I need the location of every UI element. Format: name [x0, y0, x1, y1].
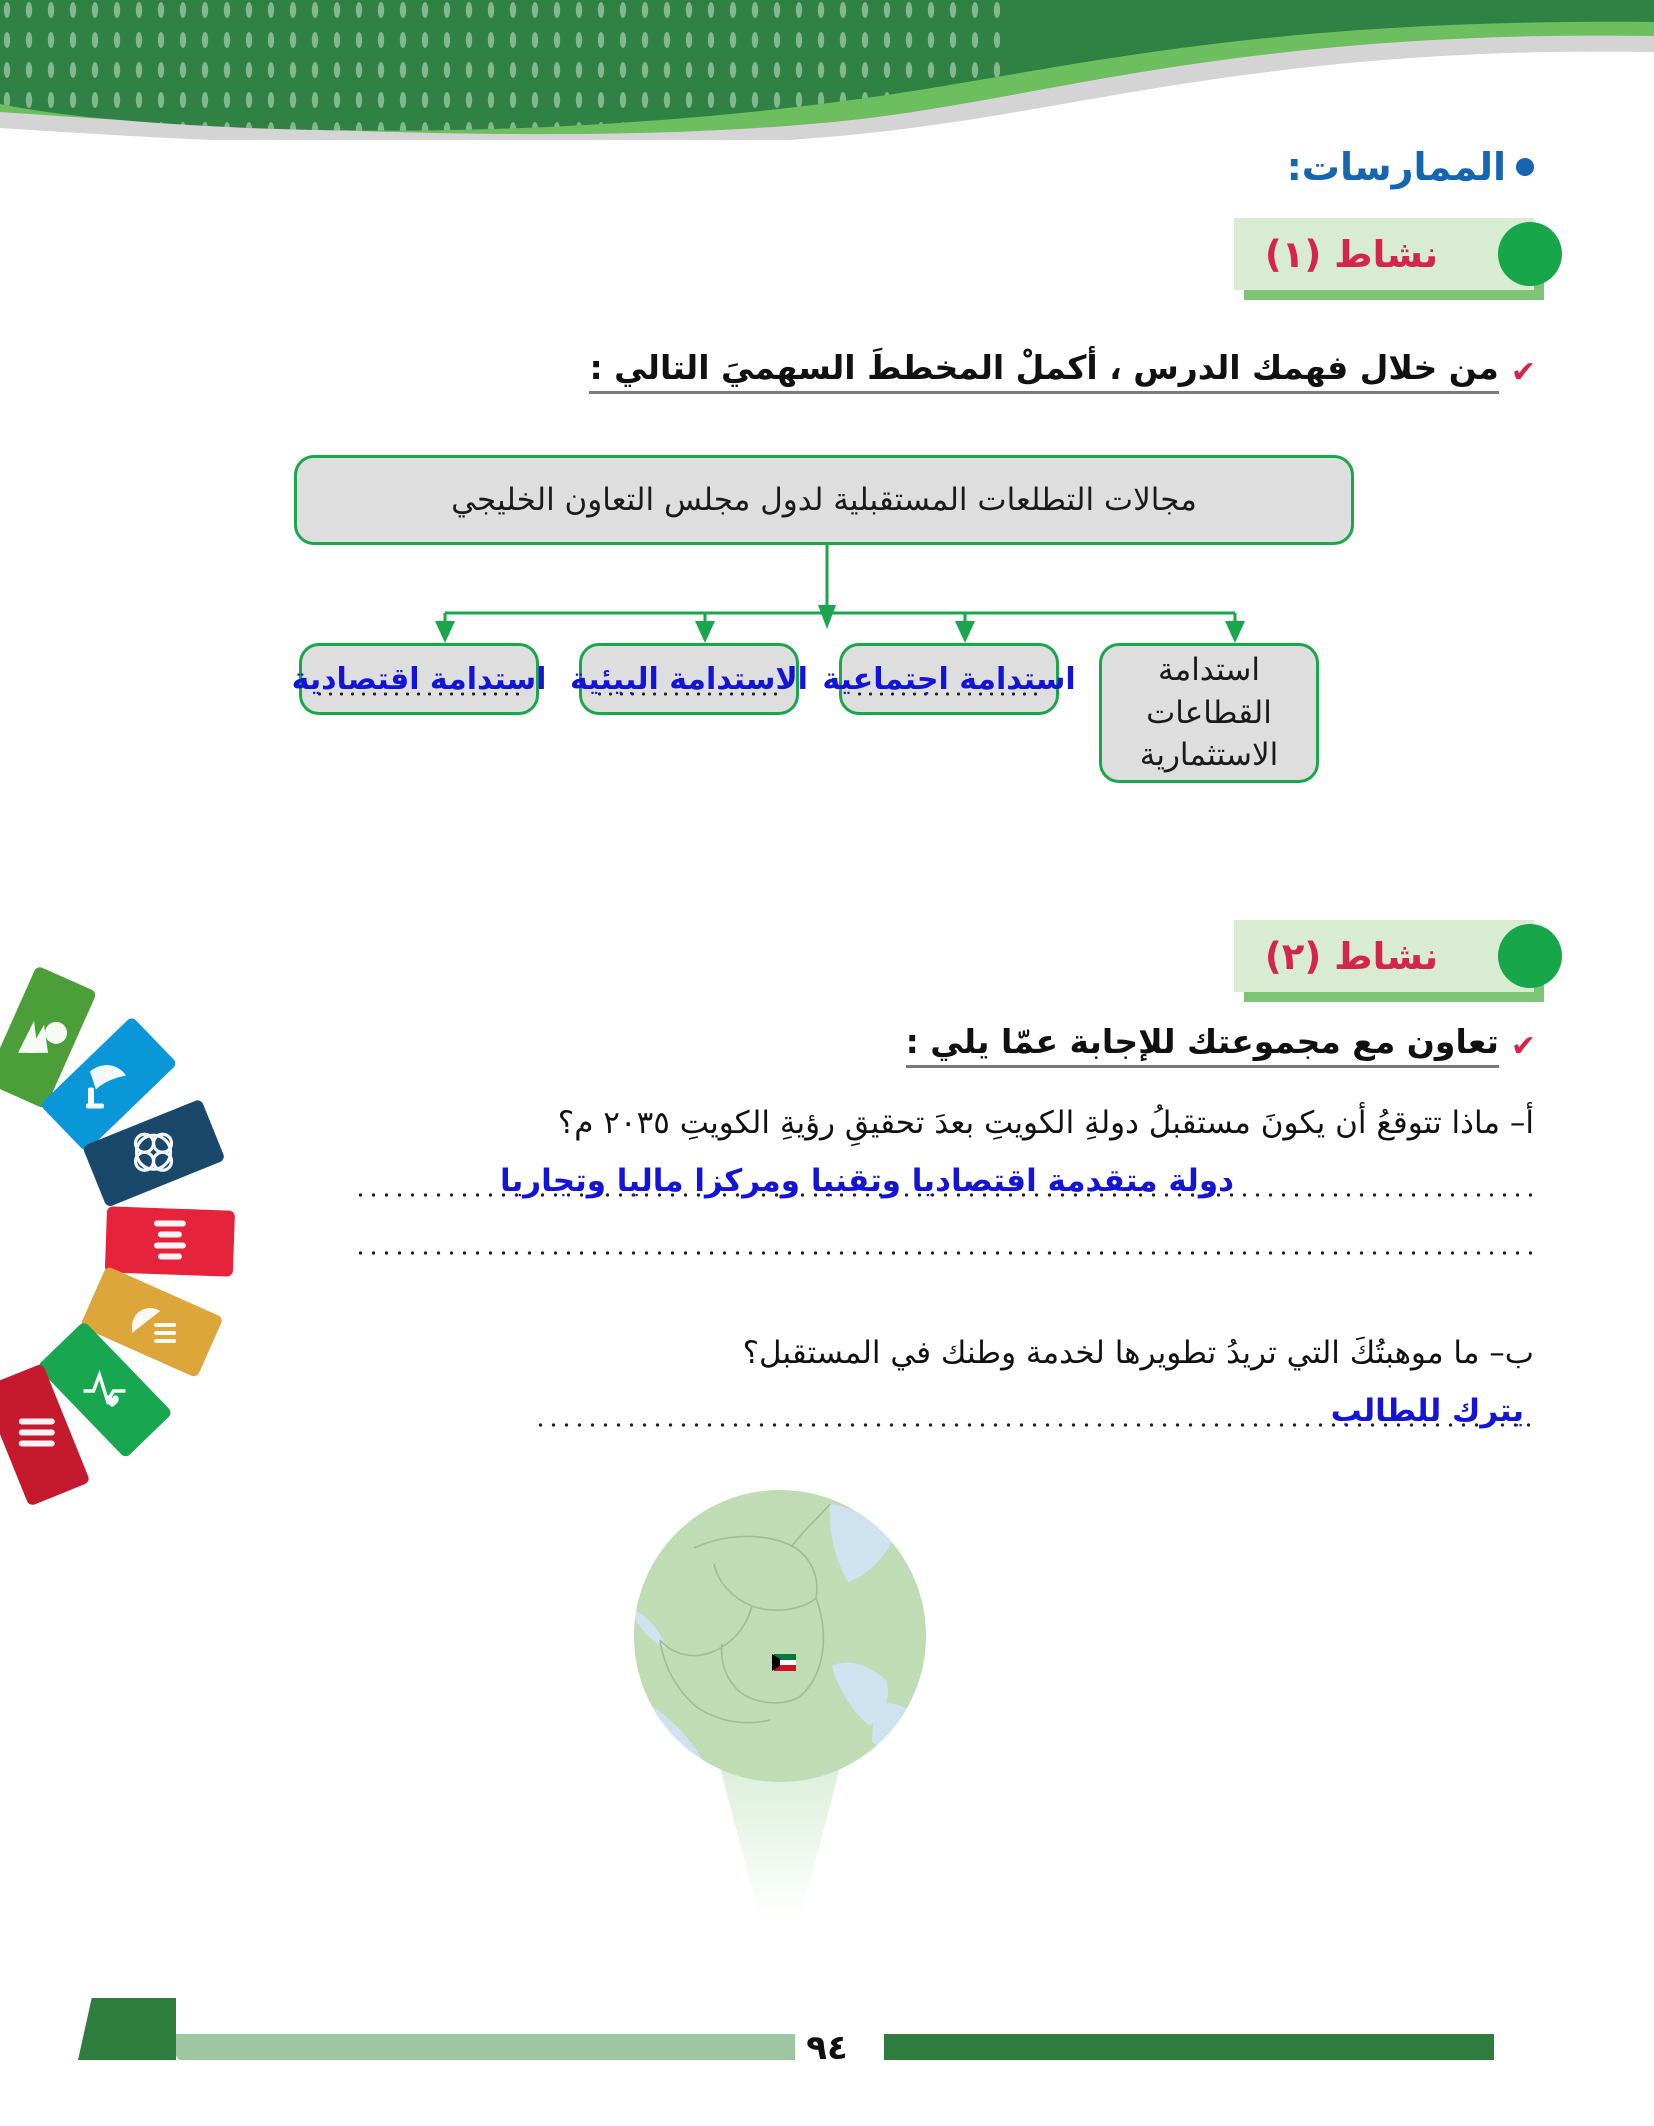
activity-1-circle-icon	[1498, 222, 1562, 286]
flowchart-child-text-3: استدامة اقتصادية	[282, 662, 557, 697]
activity-1-instruction: من خلال فهمك الدرس ، أكملْ المخططَ السهم…	[589, 348, 1498, 394]
activity-2-instruction-row: ✔ تعاون مع مجموعتك للإجابة عمّا يلي :	[906, 1022, 1536, 1068]
question-a-answer-line-2[interactable]	[354, 1211, 1534, 1263]
question-a-prompt: أ– ماذا تتوقعُ أن يكونَ مستقبلُ دولةِ ال…	[354, 1100, 1534, 1147]
flowchart-root-text: مجالات التطلعات المستقبلية لدول مجلس الت…	[437, 479, 1211, 522]
kuwait-flag-pin-icon	[772, 1652, 798, 1674]
activity-1-instruction-row: ✔ من خلال فهمك الدرس ، أكملْ المخططَ الس…	[589, 348, 1536, 394]
activity-2-circle-icon	[1498, 924, 1562, 988]
check-icon: ✔	[1511, 1032, 1536, 1062]
flowchart-child-text-2: الاستدامة البيئية	[560, 662, 818, 697]
question-b-answer: يترك للطالب	[1331, 1393, 1524, 1429]
question-a-answer-line-1[interactable]: دولة متقدمة اقتصاديا وتقنيا ومركزا ماليا…	[354, 1153, 1534, 1205]
flowchart-child-text-0: استدامة القطاعات الاستثمارية	[1102, 649, 1316, 777]
question-a-answer: دولة متقدمة اقتصاديا وتقنيا ومركزا ماليا…	[500, 1163, 1234, 1199]
activity-2-band: نشاط (٢)	[1234, 920, 1534, 992]
flowchart-child-text-1: استدامة اجتماعية	[812, 662, 1085, 697]
blue-dot-icon	[1516, 158, 1534, 176]
flowchart: مجالات التطلعات المستقبلية لدول مجلس الت…	[0, 455, 1654, 835]
question-a-block: أ– ماذا تتوقعُ أن يكونَ مستقبلُ دولةِ ال…	[354, 1100, 1534, 1263]
page-footer: ٩٤	[0, 1986, 1654, 2126]
globe-middle-east-icon	[634, 1490, 926, 1782]
activity-1-badge: نشاط (١)	[1234, 218, 1534, 290]
activity-1-band: نشاط (١)	[1234, 218, 1534, 290]
answer-dotted-line	[354, 1251, 1534, 1255]
practices-label: الممارسات:	[1287, 148, 1506, 186]
flowchart-child-box-environmental[interactable]: الاستدامة البيئية	[579, 643, 799, 715]
globe-illustration	[620, 1490, 940, 1920]
question-b-answer-line-1[interactable]: يترك للطالب	[534, 1383, 1534, 1435]
question-b-prompt: ب– ما موهبتُكَ التي تريدُ تطويرها لخدمة …	[534, 1330, 1534, 1377]
activity-2-instruction: تعاون مع مجموعتك للإجابة عمّا يلي :	[906, 1022, 1499, 1068]
page-number: ٩٤	[0, 2028, 1654, 2068]
sdg-color-wheel-icon	[0, 875, 324, 1595]
activity-2-badge: نشاط (٢)	[1234, 920, 1534, 992]
flowchart-child-box-economic[interactable]: استدامة اقتصادية	[299, 643, 539, 715]
question-b-block: ب– ما موهبتُكَ التي تريدُ تطويرها لخدمة …	[534, 1330, 1534, 1435]
page-header-decoration	[0, 0, 1654, 140]
flowchart-root-box: مجالات التطلعات المستقبلية لدول مجلس الت…	[294, 455, 1354, 545]
activity-2-label: نشاط (٢)	[1265, 935, 1438, 978]
flowchart-child-box-social[interactable]: استدامة اجتماعية	[839, 643, 1059, 715]
flowchart-child-box-investment: استدامة القطاعات الاستثمارية	[1099, 643, 1319, 783]
check-icon: ✔	[1511, 358, 1536, 388]
activity-1-label: نشاط (١)	[1265, 233, 1438, 276]
practices-heading: الممارسات:	[1287, 148, 1534, 186]
